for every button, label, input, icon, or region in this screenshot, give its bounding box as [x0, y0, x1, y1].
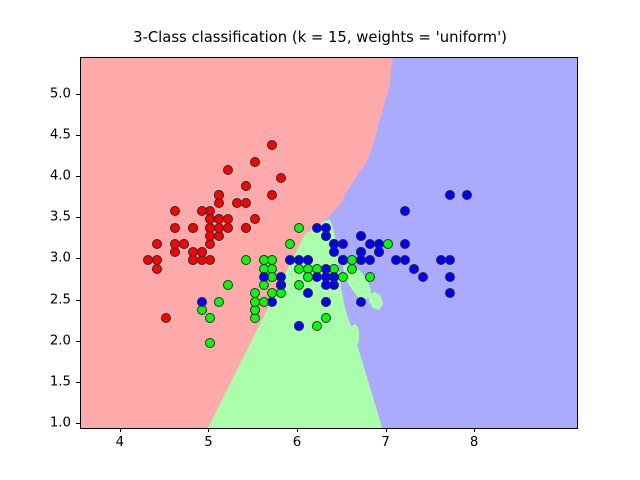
y-tick-label: 2.0 [38, 333, 71, 348]
scatter-point [241, 223, 251, 233]
scatter-point [152, 264, 162, 274]
plot-axes [80, 57, 578, 429]
scatter-point [294, 255, 304, 265]
scatter-point [365, 239, 375, 249]
scatter-point [188, 255, 198, 265]
x-tick-mark [208, 428, 209, 432]
y-tick-label: 2.5 [38, 292, 71, 307]
y-tick-mark [76, 382, 80, 383]
scatter-point [232, 198, 242, 208]
scatter-point [365, 272, 375, 282]
scatter-point [338, 239, 348, 249]
y-tick-mark [76, 300, 80, 301]
scatter-point [400, 255, 410, 265]
scatter-point [294, 280, 304, 290]
y-tick-mark [76, 258, 80, 259]
scatter-point [214, 223, 224, 233]
x-tick-label: 5 [204, 435, 212, 450]
y-tick-mark [76, 176, 80, 177]
scatter-point [374, 247, 384, 257]
scatter-point [356, 297, 366, 307]
scatter-point [312, 223, 322, 233]
scatter-point [250, 288, 260, 298]
scatter-point [223, 165, 233, 175]
scatter-point [161, 313, 171, 323]
page-title: 3-Class classification (k = 15, weights … [0, 29, 640, 46]
scatter-point [188, 223, 198, 233]
scatter-point [329, 247, 339, 257]
scatter-point [400, 206, 410, 216]
scatter-point [347, 264, 357, 274]
scatter-point [409, 264, 419, 274]
scatter-point [276, 280, 286, 290]
scatter-point [179, 239, 189, 249]
scatter-point [197, 206, 207, 216]
scatter-point [294, 264, 304, 274]
scatter-point [303, 288, 313, 298]
x-tick-label: 6 [293, 435, 301, 450]
scatter-point [445, 190, 455, 200]
scatter-point [356, 255, 366, 265]
scatter-point [462, 190, 472, 200]
scatter-point [294, 223, 304, 233]
x-tick-mark [297, 428, 298, 432]
scatter-point [267, 297, 277, 307]
y-tick-label: 4.0 [38, 169, 71, 184]
scatter-point [294, 321, 304, 331]
scatter-point [338, 272, 348, 282]
scatter-point [259, 272, 269, 282]
scatter-point [285, 239, 295, 249]
scatter-point [241, 198, 251, 208]
scatter-point [170, 223, 180, 233]
y-tick-mark [76, 341, 80, 342]
scatter-point [338, 255, 348, 265]
scatter-point [205, 313, 215, 323]
scatter-point [267, 140, 277, 150]
scatter-point [170, 206, 180, 216]
y-tick-mark [76, 217, 80, 218]
y-tick-label: 1.0 [38, 415, 71, 430]
scatter-point [267, 190, 277, 200]
scatter-point [445, 255, 455, 265]
scatter-point [383, 239, 393, 249]
x-tick-label: 7 [381, 435, 389, 450]
x-tick-mark [474, 428, 475, 432]
scatter-point [197, 247, 207, 257]
scatter-point [285, 255, 295, 265]
scatter-point [205, 214, 215, 224]
scatter-point [321, 297, 331, 307]
scatter-point [152, 239, 162, 249]
scatter-point [365, 255, 375, 265]
scatter-point [170, 239, 180, 249]
scatter-point [250, 297, 260, 307]
scatter-point [205, 231, 215, 241]
scatter-point [214, 297, 224, 307]
scatter-point [400, 239, 410, 249]
y-tick-label: 1.5 [38, 374, 71, 389]
scatter-point [276, 173, 286, 183]
scatter-point [223, 280, 233, 290]
scatter-point [197, 297, 207, 307]
y-tick-label: 5.0 [38, 87, 71, 102]
y-tick-mark [76, 94, 80, 95]
scatter-point [152, 255, 162, 265]
scatter-point [250, 214, 260, 224]
scatter-point [321, 223, 331, 233]
scatter-point [321, 272, 331, 282]
scatter-point [329, 272, 339, 282]
y-tick-label: 3.5 [38, 210, 71, 225]
scatter-point [241, 181, 251, 191]
x-tick-label: 4 [116, 435, 124, 450]
scatter-point [445, 288, 455, 298]
scatter-point [223, 223, 233, 233]
scatter-point [214, 190, 224, 200]
x-tick-mark [120, 428, 121, 432]
scatter-point [312, 321, 322, 331]
scatter-point [205, 255, 215, 265]
y-tick-label: 3.0 [38, 251, 71, 266]
x-tick-label: 8 [470, 435, 478, 450]
scatter-point [205, 338, 215, 348]
scatter-point [418, 272, 428, 282]
scatter-point [356, 231, 366, 241]
y-tick-mark [76, 135, 80, 136]
scatter-point [250, 157, 260, 167]
scatter-point [445, 272, 455, 282]
scatter-points [81, 58, 577, 428]
scatter-point [241, 255, 251, 265]
figure-canvas: 3-Class classification (k = 15, weights … [0, 0, 640, 480]
y-tick-mark [76, 423, 80, 424]
scatter-point [321, 313, 331, 323]
scatter-point [303, 255, 313, 265]
x-tick-mark [386, 428, 387, 432]
y-tick-label: 4.5 [38, 128, 71, 143]
